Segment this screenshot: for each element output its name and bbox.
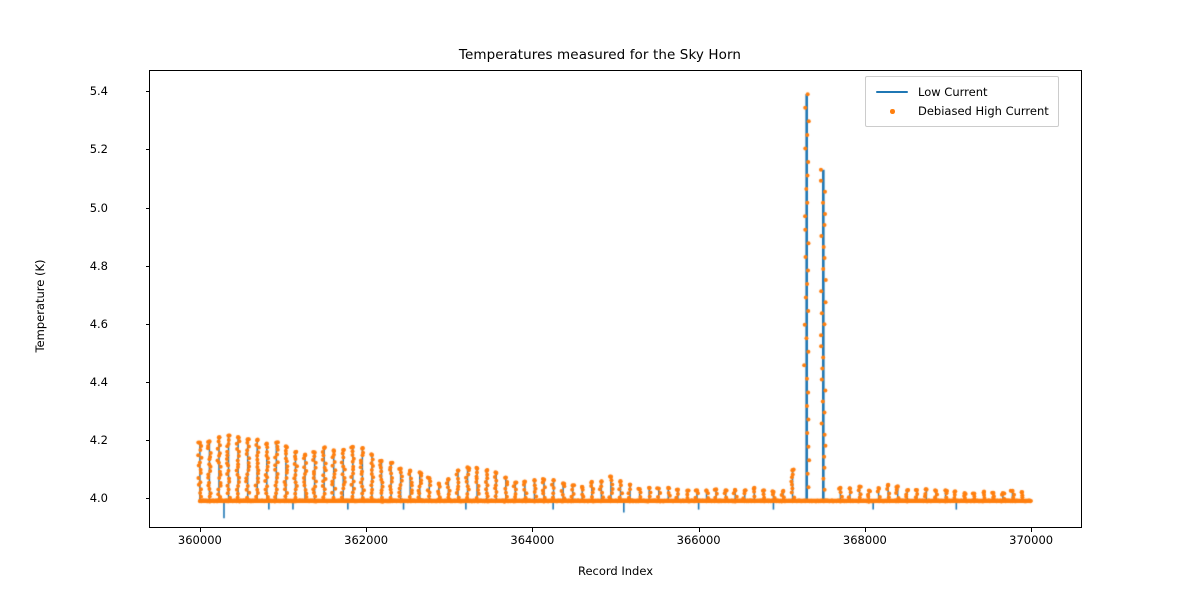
y-tick-label: 4.0 xyxy=(0,491,108,505)
y-tick-label: 4.4 xyxy=(0,375,108,389)
legend-dot-swatch xyxy=(875,104,909,118)
y-tick-label: 5.4 xyxy=(0,84,108,98)
data-plot-canvas xyxy=(150,71,1081,527)
x-tick-label: 366000 xyxy=(619,533,779,547)
y-tick-mark xyxy=(146,324,150,325)
x-tick-mark xyxy=(1031,528,1032,532)
x-tick-label: 368000 xyxy=(785,533,945,547)
legend-item-low-current: Low Current xyxy=(875,82,1049,101)
y-tick-mark xyxy=(146,498,150,499)
x-tick-mark xyxy=(699,528,700,532)
y-tick-mark xyxy=(146,149,150,150)
legend-label-low-current: Low Current xyxy=(918,85,988,99)
y-axis-label: Temperature (K) xyxy=(33,146,47,466)
matplotlib-figure: Temperatures measured for the Sky Horn T… xyxy=(0,0,1200,600)
y-tick-mark xyxy=(146,266,150,267)
x-tick-label: 360000 xyxy=(120,533,280,547)
x-axis-label: Record Index xyxy=(149,564,1082,578)
legend-line-swatch xyxy=(875,85,909,99)
legend-label-debiased-high-current: Debiased High Current xyxy=(918,104,1049,118)
y-tick-label: 4.6 xyxy=(0,317,108,331)
y-tick-mark xyxy=(146,91,150,92)
x-tick-label: 370000 xyxy=(951,533,1111,547)
y-tick-label: 5.0 xyxy=(0,201,108,215)
x-tick-label: 362000 xyxy=(286,533,446,547)
chart-title: Temperatures measured for the Sky Horn xyxy=(0,47,1200,63)
x-tick-mark xyxy=(200,528,201,532)
chart-legend[interactable]: Low Current Debiased High Current xyxy=(865,76,1059,127)
x-tick-label: 364000 xyxy=(452,533,612,547)
x-tick-mark xyxy=(865,528,866,532)
x-tick-mark xyxy=(532,528,533,532)
legend-item-debiased-high-current: Debiased High Current xyxy=(875,101,1049,120)
y-tick-label: 5.2 xyxy=(0,142,108,156)
x-tick-mark xyxy=(366,528,367,532)
y-tick-label: 4.8 xyxy=(0,259,108,273)
y-tick-label: 4.2 xyxy=(0,433,108,447)
y-tick-mark xyxy=(146,440,150,441)
y-tick-mark xyxy=(146,208,150,209)
y-tick-mark xyxy=(146,382,150,383)
plot-area xyxy=(149,70,1082,528)
